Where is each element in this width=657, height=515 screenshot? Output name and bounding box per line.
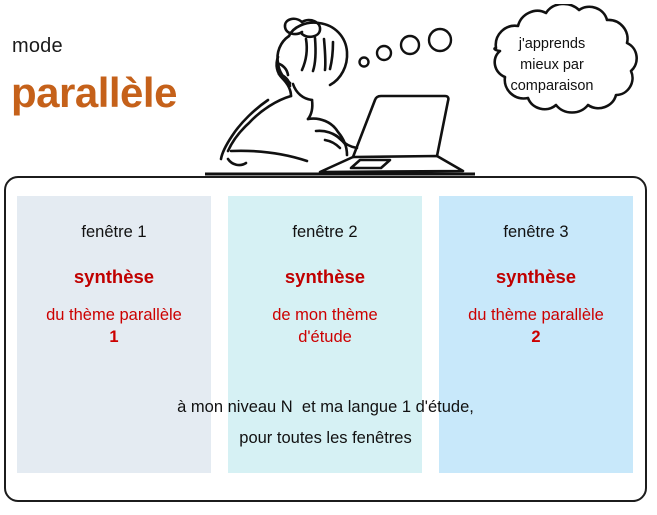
- window-label-1: fenêtre 1: [17, 223, 211, 241]
- window-subline-3b: 2: [531, 328, 540, 346]
- window-column-2[interactable]: fenêtre 2 synthèse de mon thème d'étude: [228, 196, 422, 473]
- window-subtext-1: du thème parallèle 1: [17, 305, 211, 349]
- window-label-2: fenêtre 2: [228, 223, 422, 241]
- window-subline-2a: de mon thème: [272, 306, 377, 324]
- thought-line-3: comparaison: [472, 76, 632, 97]
- thought-bubble-text: j'apprends mieux par comparaison: [472, 34, 632, 97]
- window-subline-1a: du thème parallèle: [46, 306, 182, 324]
- window-heading-2: synthèse: [228, 267, 422, 287]
- window-columns: fenêtre 1 synthèse du thème parallèle 1 …: [17, 196, 634, 473]
- mode-label: mode: [12, 36, 63, 56]
- thought-line-2: mieux par: [472, 55, 632, 76]
- page-title: parallèle: [11, 72, 177, 114]
- window-subline-3a: du thème parallèle: [468, 306, 604, 324]
- window-subline-1b: 1: [109, 328, 118, 346]
- window-subtext-3: du thème parallèle 2: [439, 305, 633, 349]
- window-label-3: fenêtre 3: [439, 223, 633, 241]
- window-heading-3: synthèse: [439, 267, 633, 287]
- window-subline-2b: d'étude: [298, 328, 352, 346]
- window-column-3[interactable]: fenêtre 3 synthèse du thème parallèle 2: [439, 196, 633, 473]
- window-column-1[interactable]: fenêtre 1 synthèse du thème parallèle 1: [17, 196, 211, 473]
- header-area: mode parallèle: [0, 0, 657, 176]
- window-subtext-2: de mon thème d'étude: [228, 305, 422, 349]
- window-heading-1: synthèse: [17, 267, 211, 287]
- thought-line-1: j'apprends: [472, 34, 632, 55]
